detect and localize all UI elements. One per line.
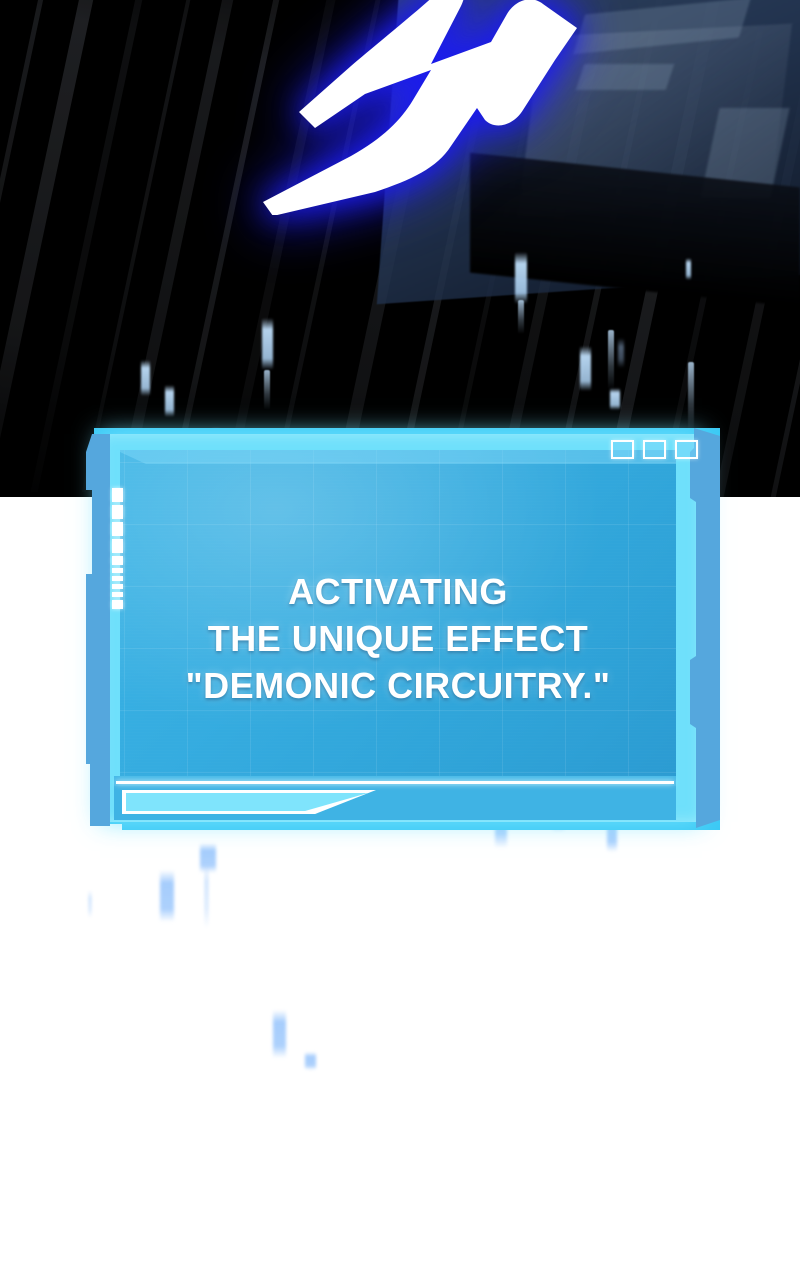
level-meter-segment [112,568,123,573]
message-line-2: THE UNIQUE EFFECT [120,615,676,662]
level-meter-segment [112,592,123,597]
rain-drop [204,862,209,928]
level-meter-segment [112,600,123,609]
panel-footer-divider [116,781,674,784]
status-indicator-group [611,440,698,459]
rain-drop [88,890,92,918]
status-box-2[interactable] [643,440,666,459]
rain-drop [160,870,174,922]
message-line-1: ACTIVATING [120,568,676,615]
message-line-3: "DEMONIC CIRCUITRY." [120,662,676,709]
rain-drop [273,1010,286,1058]
system-notification-panel[interactable]: ACTIVATING THE UNIQUE EFFECT "DEMONIC CI… [86,428,720,830]
level-meter [112,488,123,609]
level-meter-segment [112,522,123,536]
level-meter-segment [112,505,123,519]
rain-drop [618,338,624,368]
level-meter-segment [112,576,123,581]
rain-drop [305,1052,316,1070]
level-meter-segment [112,556,123,565]
panel-screen: ACTIVATING THE UNIQUE EFFECT "DEMONIC CI… [120,450,676,778]
panel-message: ACTIVATING THE UNIQUE EFFECT "DEMONIC CI… [120,568,676,709]
status-box-3[interactable] [675,440,698,459]
comic-panel-scene: ACTIVATING THE UNIQUE EFFECT "DEMONIC CI… [0,0,800,1280]
level-meter-segment [112,488,123,502]
screen-top-chamfer [120,450,676,464]
level-meter-segment [112,539,123,553]
level-meter-segment [112,584,123,589]
panel-left-rail [86,434,110,826]
status-box-1[interactable] [611,440,634,459]
